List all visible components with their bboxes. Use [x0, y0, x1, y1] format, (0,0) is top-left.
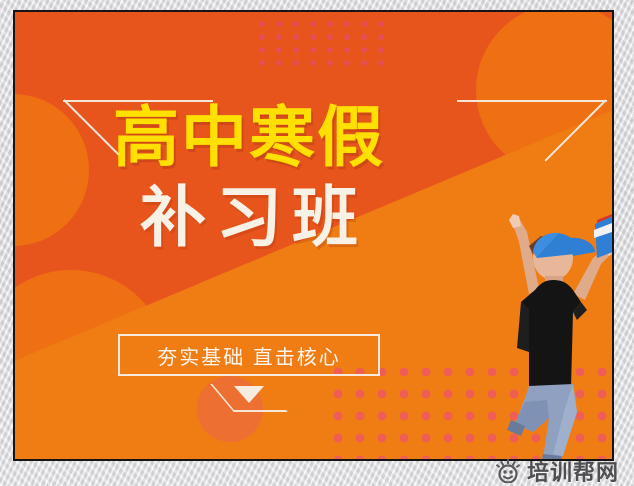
poster-subtitle-text: 夯实基础 直击核心 [157, 341, 341, 370]
poster-title-line-2: 补习班 [15, 184, 483, 250]
down-arrow-icon [222, 384, 276, 422]
headline-block: 高中寒假 补习班 [15, 104, 483, 250]
watermark-text: 培训帮网 [527, 455, 619, 486]
watermark: 培训帮网 [495, 455, 619, 486]
poster-title-line-1: 高中寒假 [15, 104, 483, 170]
poster-canvas: 高中寒假 补习班 夯实基础 直击核心 [15, 12, 612, 459]
down-arrow-triangle [234, 386, 264, 403]
smiley-sun-icon [495, 459, 521, 483]
dot-grid-top [258, 20, 386, 72]
poster-subtitle-box: 夯实基础 直击核心 [118, 334, 380, 376]
jumping-student-illustration [477, 202, 612, 459]
poster-frame: 高中寒假 补习班 夯实基础 直击核心 [13, 10, 614, 461]
